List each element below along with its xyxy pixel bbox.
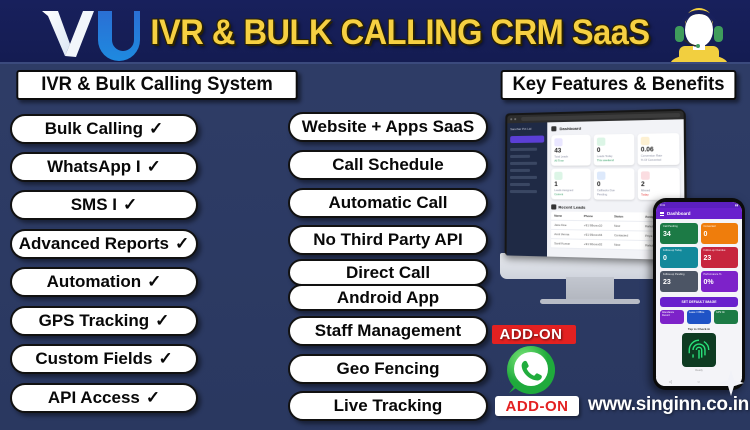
phone-app-bar: Dashboard — [656, 208, 742, 219]
stat-value: 1 — [554, 182, 587, 188]
check-icon: ✓ — [149, 119, 163, 139]
check-icon: ✓ — [146, 388, 160, 408]
chip-attendance[interactable]: Attendance Record — [660, 310, 684, 324]
set-default-image-button[interactable]: SET DEFAULT IMAGE — [660, 297, 738, 307]
left-section-title: IVR & Bulk Calling System — [16, 70, 297, 100]
stat-card: 43 Total Leads All Time — [551, 135, 590, 166]
stat-label: Conversion Rate — [641, 154, 676, 158]
website-url[interactable]: www.singinn.co.in — [588, 394, 749, 416]
tile-value: 0 — [704, 231, 736, 239]
feature-pill-automatic-call[interactable]: Automatic Call — [288, 188, 488, 218]
feature-pill-direct-call[interactable]: Direct Call — [288, 259, 488, 286]
check-icon: ✓ — [147, 157, 161, 177]
vu-logo — [36, 4, 146, 62]
pill-label: SMS I — [71, 195, 117, 215]
cell-name: Sunil Kumar — [554, 241, 584, 246]
status-time: 9:41 — [660, 204, 665, 207]
stat-sub: All Time — [554, 159, 587, 162]
chart-icon — [641, 137, 650, 145]
cell-status: New — [614, 224, 645, 229]
feature-pill-custom-fields[interactable]: Custom Fields ✓ — [10, 344, 198, 374]
callback-icon — [597, 172, 605, 180]
stat-sub: Pending — [597, 193, 631, 196]
cell-status: New — [614, 243, 645, 248]
tile-value: 0 — [663, 255, 695, 263]
feature-pill-staff-management[interactable]: Staff Management — [288, 316, 488, 346]
check-icon: ✓ — [158, 349, 172, 369]
stat-card: 0 Callbacks Due Pending — [594, 168, 635, 199]
page-title: IVR & BULK CALLING CRM SaaS — [158, 4, 642, 62]
poster-header: IVR & BULK CALLING CRM SaaS — [0, 0, 750, 64]
stat-card: 0 Leads Today This weekend — [594, 134, 635, 166]
tile-followup-pending[interactable]: Follow-up Pending 23 — [660, 271, 698, 292]
feature-pill-whatsapp[interactable]: WhatsApp I ✓ — [10, 152, 198, 182]
addon-badge-top: ADD-ON — [489, 325, 573, 344]
stat-value: 0.06 — [641, 147, 676, 154]
checkin-label: Tap to Check-In — [656, 327, 742, 331]
stat-sub: Today — [641, 193, 676, 196]
pill-label: Automation — [47, 272, 141, 292]
stat-card-grid: 43 Total Leads All Time 0 Leads Today Th… — [551, 133, 680, 200]
stat-card: 2 Missed Today — [638, 168, 680, 200]
tile-call-pending[interactable]: Call Pending 34 — [660, 223, 698, 244]
cell-phone: +91 98xxxx10 — [584, 223, 614, 228]
pill-label: Advanced Reports — [19, 234, 169, 254]
check-icon: ✓ — [175, 234, 189, 254]
browser-dot-icon — [510, 118, 512, 120]
stat-label: Total Leads — [554, 155, 587, 158]
cell-status: Contacted — [614, 233, 645, 238]
pill-label: API Access — [48, 388, 140, 408]
dashboard-breadcrumb: Dashboard — [551, 124, 679, 132]
feature-pill-call-schedule[interactable]: Call Schedule — [288, 150, 488, 180]
sidebar-item[interactable] — [510, 169, 530, 172]
tile-converted[interactable]: Converted 0 — [701, 223, 739, 244]
cell-name: Amit Verma — [554, 232, 584, 237]
tile-label: Follow-up Pending — [663, 274, 695, 277]
column-header: Status — [614, 214, 645, 219]
column-header: Phone — [584, 214, 614, 219]
back-icon[interactable]: ◁ — [669, 379, 672, 384]
browser-dot-icon — [514, 118, 516, 120]
whatsapp-icon — [505, 344, 557, 396]
chip-gps-on[interactable]: GPS On — [714, 310, 738, 324]
sidebar-item[interactable] — [510, 176, 537, 179]
sidebar-brand: Sanchar Pvt Ltd — [510, 126, 544, 131]
feature-pill-automation[interactable]: Automation ✓ — [10, 267, 198, 297]
stat-sub: This weekend — [597, 159, 631, 162]
dashboard-title: Dashboard — [559, 126, 581, 132]
hamburger-icon[interactable] — [660, 212, 664, 216]
tile-label: Call Pending — [663, 226, 695, 229]
user-icon — [554, 172, 562, 180]
phone-tile-grid: Call Pending 34 Converted 0 Follow-up To… — [656, 219, 742, 296]
home-icon[interactable]: ○ — [697, 379, 699, 384]
pill-label: WhatsApp I — [47, 157, 141, 177]
stat-label: Callbacks Due — [597, 189, 631, 192]
table-title: Recent Leads — [558, 204, 585, 209]
feature-pill-website-apps-saas[interactable]: Website + Apps SaaS — [288, 112, 488, 142]
pill-label: GPS Tracking — [39, 311, 150, 331]
tile-label: Performance % — [704, 274, 736, 277]
sidebar-item[interactable] — [510, 155, 530, 158]
tile-label: Converted — [704, 226, 736, 229]
column-header: Name — [554, 214, 584, 218]
stat-value: 2 — [641, 182, 676, 188]
laptop-foot — [540, 299, 640, 304]
app-title: Dashboard — [667, 211, 691, 216]
feature-pill-advanced-reports[interactable]: Advanced Reports ✓ — [10, 229, 198, 259]
grid-icon — [551, 126, 556, 131]
tile-label: Follow-up Overdue — [704, 250, 736, 253]
feature-pill-api-access[interactable]: API Access ✓ — [10, 383, 198, 413]
feature-pill-geo-fencing[interactable]: Geo Fencing — [288, 354, 488, 384]
sidebar-item[interactable] — [510, 148, 536, 151]
status-icons: ▮▮ — [735, 204, 738, 207]
phone-mockup: 9:41 ▮▮ Dashboard Call Pending 34 Conver… — [653, 198, 745, 390]
phone-screen: 9:41 ▮▮ Dashboard Call Pending 34 Conver… — [656, 202, 742, 386]
addon-badge-bottom: ADD-ON — [495, 396, 579, 416]
check-icon: ✓ — [147, 272, 161, 292]
right-section-title: Key Features & Benefits — [501, 70, 737, 100]
tile-followup-overdue[interactable]: Follow-up Overdue 23 — [701, 247, 739, 268]
feature-pill-android-app[interactable]: Android App — [288, 284, 488, 311]
cell-name: Jane Doe — [554, 223, 584, 228]
feature-pill-gps-tracking[interactable]: GPS Tracking ✓ — [10, 306, 198, 336]
stat-card: 0.06 Conversion Rate % Of Converted — [637, 133, 679, 165]
leads-icon — [554, 138, 562, 146]
tile-value: 0% — [704, 279, 736, 287]
pill-label: Bulk Calling — [45, 119, 143, 139]
feature-pill-live-tracking[interactable]: Live Tracking — [288, 391, 488, 421]
sidebar-item[interactable] — [510, 162, 537, 165]
feature-pill-sms[interactable]: SMS I ✓ — [10, 190, 198, 220]
sparkle-icon — [718, 370, 744, 396]
missed-icon — [641, 171, 650, 179]
phone-icon — [597, 138, 605, 146]
stat-sub: % Of Converted — [641, 159, 676, 162]
stat-card: 1 Leads Assigned Current — [551, 169, 590, 200]
tile-value: 34 — [663, 231, 695, 239]
stat-label: Leads Today — [597, 155, 631, 158]
stat-label: Leads Assigned — [554, 189, 587, 192]
dashboard-sidebar: Sanchar Pvt Ltd — [507, 122, 548, 256]
stat-label: Missed — [641, 189, 676, 192]
stat-value: 0 — [597, 147, 631, 154]
tile-followup-today[interactable]: Follow-up Today 0 — [660, 247, 698, 268]
tile-value: 23 — [663, 279, 695, 287]
fingerprint-icon[interactable] — [682, 333, 716, 367]
tile-performance[interactable]: Performance % 0% — [701, 271, 739, 292]
sidebar-item[interactable] — [510, 190, 537, 193]
check-icon: ✓ — [123, 195, 137, 215]
feature-pill-bulk-calling[interactable]: Bulk Calling ✓ — [10, 114, 198, 144]
feature-pill-no-third-party-api[interactable]: No Third Party API — [288, 225, 488, 255]
phone-chip-row: Attendance Record Leave / Offline GPS On — [656, 310, 742, 327]
stat-value: 43 — [554, 148, 587, 155]
stat-sub: Current — [554, 193, 587, 196]
poster-canvas: IVR & BULK CALLING CRM SaaS IVR & Bulk C… — [0, 0, 750, 430]
cell-phone: +91 99xxxx44 — [584, 233, 614, 238]
check-icon: ✓ — [155, 311, 169, 331]
stat-value: 0 — [597, 182, 631, 188]
list-icon — [551, 204, 556, 209]
pill-label: Custom Fields — [35, 349, 152, 369]
chip-leave-offline[interactable]: Leave / Offline — [687, 310, 711, 324]
tile-label: Follow-up Today — [663, 250, 695, 253]
tile-value: 23 — [704, 255, 736, 263]
headset-agent-icon — [660, 2, 738, 62]
sidebar-item-dashboard[interactable] — [510, 136, 544, 144]
cell-phone: +91 90xxxx02 — [584, 242, 614, 247]
sidebar-item[interactable] — [510, 183, 530, 186]
laptop-stand — [566, 277, 614, 301]
